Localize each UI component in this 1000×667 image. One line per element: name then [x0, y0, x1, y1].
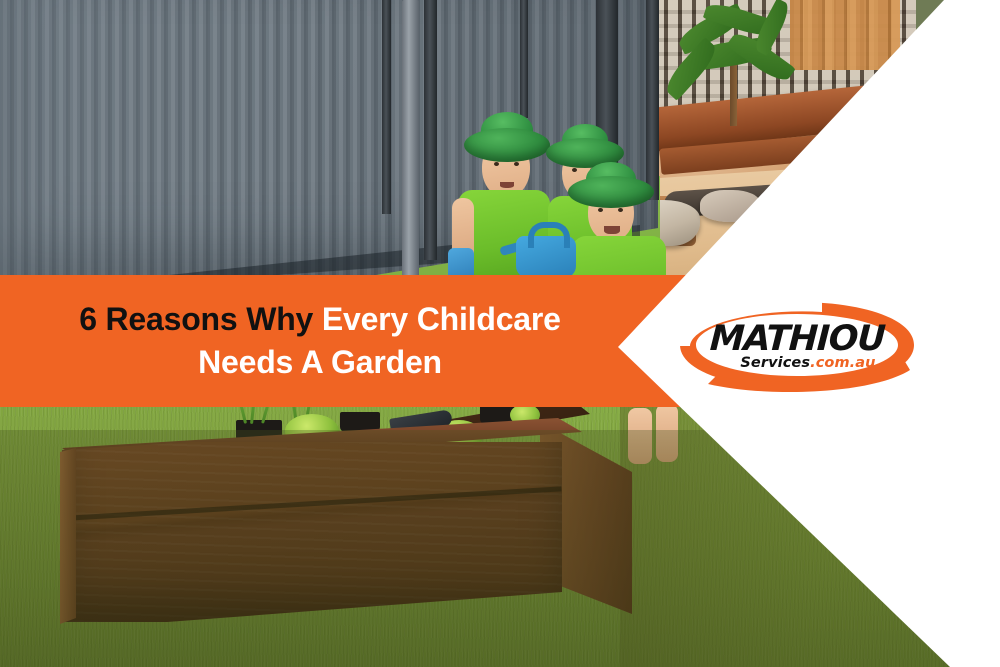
- fence-post: [646, 0, 659, 200]
- timber-slat-wall: [790, 0, 900, 70]
- fence-post: [520, 0, 528, 118]
- mathiou-services-logo[interactable]: MATHIOU Services.com.au: [672, 298, 922, 392]
- title-line-1: 6 Reasons Why Every Childcare: [79, 299, 561, 340]
- child-eye: [494, 162, 499, 166]
- child-eye: [572, 168, 577, 172]
- fence-post: [382, 0, 391, 214]
- turf-foreground-shadow: [0, 430, 1000, 667]
- banner-title: 6 Reasons Why Every Childcare Needs A Ga…: [0, 275, 640, 407]
- bucket-hat-brim: [568, 176, 654, 208]
- logo-name: MATHIOU: [709, 321, 885, 357]
- child-eye: [618, 208, 623, 212]
- child-mouth: [500, 182, 514, 188]
- child-mouth: [604, 226, 620, 234]
- landscape-rock: [700, 190, 760, 222]
- child-eye: [514, 162, 519, 166]
- logo-wordmark: MATHIOU Services.com.au: [672, 298, 922, 392]
- bucket-hat-brim: [464, 128, 550, 162]
- child-eye: [598, 208, 603, 212]
- title-highlight-black: 6 Reasons Why: [79, 301, 313, 337]
- seedling-pot: [340, 412, 380, 432]
- title-line-2: Needs A Garden: [198, 342, 442, 383]
- title-line-1-spacer: [313, 301, 322, 337]
- palm-trunk: [730, 56, 737, 126]
- title-highlight-white: Every Childcare: [322, 301, 561, 337]
- watering-can-handle: [528, 222, 570, 248]
- blog-feature-banner: 6 Reasons Why Every Childcare Needs A Ga…: [0, 0, 1000, 667]
- downpipe: [402, 0, 419, 280]
- fence-post: [424, 0, 437, 260]
